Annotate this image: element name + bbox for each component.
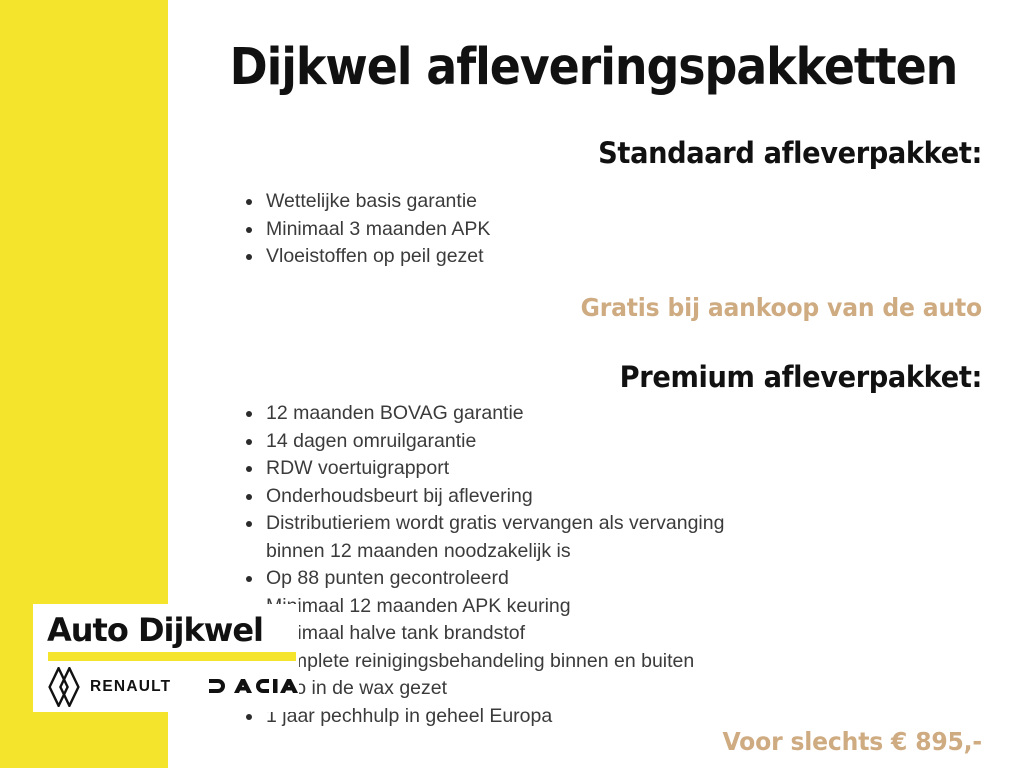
standard-package-list: Wettelijke basis garantie Minimaal 3 maa…	[237, 188, 1008, 271]
list-item: Minimaal 12 maanden APK keuring	[263, 593, 1008, 621]
list-item: Distributieriem wordt gratis vervangen a…	[263, 510, 1008, 538]
standard-package-tagline: Gratis bij aankoop van de auto	[238, 293, 982, 322]
list-item: RDW voertuigrapport	[263, 455, 1008, 483]
page-title: Dijkwel afleveringspakketten	[230, 41, 943, 95]
renault-brand-label: RENAULT	[90, 678, 171, 696]
list-item-label: Complete reinigingsbehandeling binnen en…	[266, 650, 694, 672]
list-item-label: Distributieriem wordt gratis vervangen a…	[266, 512, 724, 534]
list-item: Wettelijke basis garantie	[263, 188, 1008, 216]
list-item-label: Op 88 punten gecontroleerd	[266, 567, 509, 589]
list-item-label: Wettelijke basis garantie	[266, 190, 477, 212]
list-item: 1 jaar pechhulp in geheel Europa	[263, 703, 1008, 731]
list-item: Op 88 punten gecontroleerd	[263, 565, 1008, 593]
list-item: 14 dagen omruilgarantie	[263, 428, 1008, 456]
premium-package-price-tagline: Voor slechts € 895,-	[238, 727, 982, 756]
brand-row: RENAULT DACIA	[45, 666, 299, 708]
list-item-continuation: Auto in de wax gezet	[263, 675, 1008, 703]
content-column: Dijkwel afleveringspakketten Standaard a…	[190, 0, 982, 768]
poster-canvas: Dijkwel afleveringspakketten Standaard a…	[0, 0, 1024, 768]
list-item-label: 1 jaar pechhulp in geheel Europa	[266, 705, 552, 727]
dealer-logo-card: Auto Dijkwel RENAULT DACIA	[33, 604, 299, 712]
list-item-label: Minimaal halve tank brandstof	[266, 622, 525, 644]
list-item-label: binnen 12 maanden noodzakelijk is	[266, 540, 571, 562]
list-item: Minimaal 3 maanden APK	[263, 216, 1008, 244]
list-item-label: Minimaal 12 maanden APK keuring	[266, 595, 571, 617]
list-item: Vloeistoffen op peil gezet	[263, 243, 1008, 271]
list-item: 12 maanden BOVAG garantie	[263, 400, 1008, 428]
list-item-label: 12 maanden BOVAG garantie	[266, 402, 524, 424]
list-item-label: RDW voertuigrapport	[266, 457, 449, 479]
dealer-wordmark: Auto Dijkwel	[47, 611, 263, 649]
list-item: Onderhoudsbeurt bij aflevering	[263, 483, 1008, 511]
premium-package-heading: Premium afleverpakket:	[238, 360, 982, 394]
list-item: Complete reinigingsbehandeling binnen en…	[263, 648, 1008, 676]
list-item-label: Minimaal 3 maanden APK	[266, 218, 490, 240]
list-item-label: Vloeistoffen op peil gezet	[266, 245, 484, 267]
standard-package-heading: Standaard afleverpakket:	[238, 136, 982, 170]
dacia-wordmark-icon: DACIA	[208, 677, 298, 695]
list-item: Minimaal halve tank brandstof	[263, 620, 1008, 648]
renault-diamond-icon	[48, 667, 80, 707]
list-item-label: Onderhoudsbeurt bij aflevering	[266, 485, 533, 507]
premium-package-list: 12 maanden BOVAG garantie 14 dagen omrui…	[237, 400, 1008, 730]
list-item-continuation: binnen 12 maanden noodzakelijk is	[263, 538, 1008, 566]
list-item-label: 14 dagen omruilgarantie	[266, 430, 476, 452]
logo-yellow-rule	[48, 652, 296, 661]
